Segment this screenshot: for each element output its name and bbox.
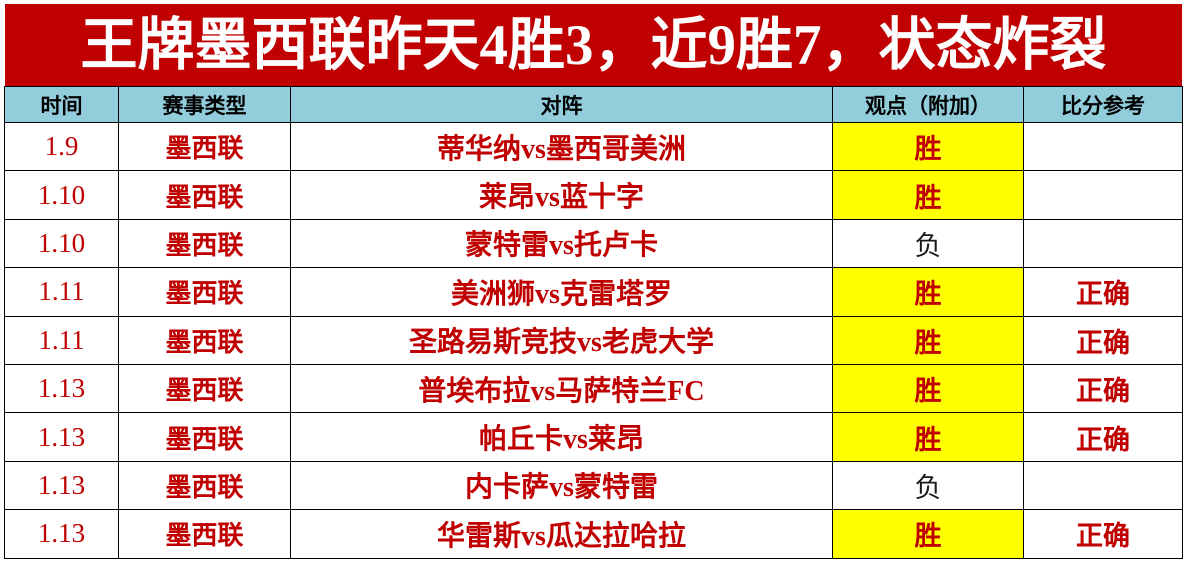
cell-score-result	[1024, 219, 1183, 267]
cell-score-result	[1024, 171, 1183, 219]
cell-league: 墨西联	[119, 219, 291, 267]
table-row: 1.13墨西联华雷斯vs瓜达拉哈拉胜正确	[5, 510, 1183, 558]
table-row: 1.9墨西联蒂华纳vs墨西哥美洲胜	[5, 123, 1183, 171]
column-header-view: 观点（附加）	[833, 87, 1024, 123]
cell-league: 墨西联	[119, 461, 291, 509]
cell-view-prediction: 胜	[833, 413, 1024, 461]
cell-match: 蒂华纳vs墨西哥美洲	[291, 123, 833, 171]
cell-match: 美洲狮vs克雷塔罗	[291, 268, 833, 316]
table-row: 1.13墨西联内卡萨vs蒙特雷负	[5, 461, 1183, 509]
column-header-match: 对阵	[291, 87, 833, 123]
cell-match: 帕丘卡vs莱昂	[291, 413, 833, 461]
cell-time: 1.13	[5, 413, 119, 461]
cell-time: 1.10	[5, 171, 119, 219]
cell-match: 圣路易斯竞技vs老虎大学	[291, 316, 833, 364]
column-header-league: 赛事类型	[119, 87, 291, 123]
cell-view-prediction: 负	[833, 461, 1024, 509]
table-body: 1.9墨西联蒂华纳vs墨西哥美洲胜1.10墨西联莱昂vs蓝十字胜1.10墨西联蒙…	[5, 123, 1183, 559]
cell-time: 1.11	[5, 316, 119, 364]
cell-score-result: 正确	[1024, 413, 1183, 461]
cell-match: 华雷斯vs瓜达拉哈拉	[291, 510, 833, 558]
column-header-time: 时间	[5, 87, 119, 123]
cell-time: 1.13	[5, 461, 119, 509]
cell-league: 墨西联	[119, 171, 291, 219]
cell-time: 1.10	[5, 219, 119, 267]
cell-score-result: 正确	[1024, 510, 1183, 558]
page-title: 王牌墨西联昨天4胜3，近9胜7，状态炸裂	[81, 17, 1107, 74]
cell-view-prediction: 胜	[833, 123, 1024, 171]
cell-view-prediction: 胜	[833, 268, 1024, 316]
table-row: 1.13墨西联普埃布拉vs马萨特兰FC胜正确	[5, 364, 1183, 412]
table-row: 1.11墨西联美洲狮vs克雷塔罗胜正确	[5, 268, 1183, 316]
table-header: 时间 赛事类型 对阵 观点（附加） 比分参考	[5, 87, 1183, 123]
prediction-table-page: 王牌墨西联昨天4胜3，近9胜7，状态炸裂 时间 赛事类型 对阵 观点（附加） 比…	[0, 0, 1186, 562]
cell-match: 普埃布拉vs马萨特兰FC	[291, 364, 833, 412]
cell-match: 内卡萨vs蒙特雷	[291, 461, 833, 509]
cell-time: 1.13	[5, 364, 119, 412]
cell-score-result: 正确	[1024, 364, 1183, 412]
cell-league: 墨西联	[119, 268, 291, 316]
cell-view-prediction: 胜	[833, 510, 1024, 558]
table-row: 1.11墨西联圣路易斯竞技vs老虎大学胜正确	[5, 316, 1183, 364]
cell-view-prediction: 负	[833, 219, 1024, 267]
table-row: 1.13墨西联帕丘卡vs莱昂胜正确	[5, 413, 1183, 461]
cell-league: 墨西联	[119, 510, 291, 558]
cell-score-result: 正确	[1024, 268, 1183, 316]
cell-score-result	[1024, 123, 1183, 171]
column-header-score: 比分参考	[1024, 87, 1183, 123]
cell-league: 墨西联	[119, 364, 291, 412]
cell-score-result: 正确	[1024, 316, 1183, 364]
cell-league: 墨西联	[119, 123, 291, 171]
predictions-table-container: 时间 赛事类型 对阵 观点（附加） 比分参考 1.9墨西联蒂华纳vs墨西哥美洲胜…	[4, 86, 1182, 558]
table-row: 1.10墨西联蒙特雷vs托卢卡负	[5, 219, 1183, 267]
cell-match: 莱昂vs蓝十字	[291, 171, 833, 219]
cell-time: 1.13	[5, 510, 119, 558]
cell-view-prediction: 胜	[833, 316, 1024, 364]
cell-view-prediction: 胜	[833, 364, 1024, 412]
table-header-row: 时间 赛事类型 对阵 观点（附加） 比分参考	[5, 87, 1183, 123]
cell-league: 墨西联	[119, 316, 291, 364]
cell-score-result	[1024, 461, 1183, 509]
table-row: 1.10墨西联莱昂vs蓝十字胜	[5, 171, 1183, 219]
banner: 王牌墨西联昨天4胜3，近9胜7，状态炸裂	[5, 4, 1182, 86]
cell-view-prediction: 胜	[833, 171, 1024, 219]
cell-league: 墨西联	[119, 413, 291, 461]
cell-time: 1.11	[5, 268, 119, 316]
predictions-table: 时间 赛事类型 对阵 观点（附加） 比分参考 1.9墨西联蒂华纳vs墨西哥美洲胜…	[4, 86, 1183, 559]
cell-time: 1.9	[5, 123, 119, 171]
cell-match: 蒙特雷vs托卢卡	[291, 219, 833, 267]
